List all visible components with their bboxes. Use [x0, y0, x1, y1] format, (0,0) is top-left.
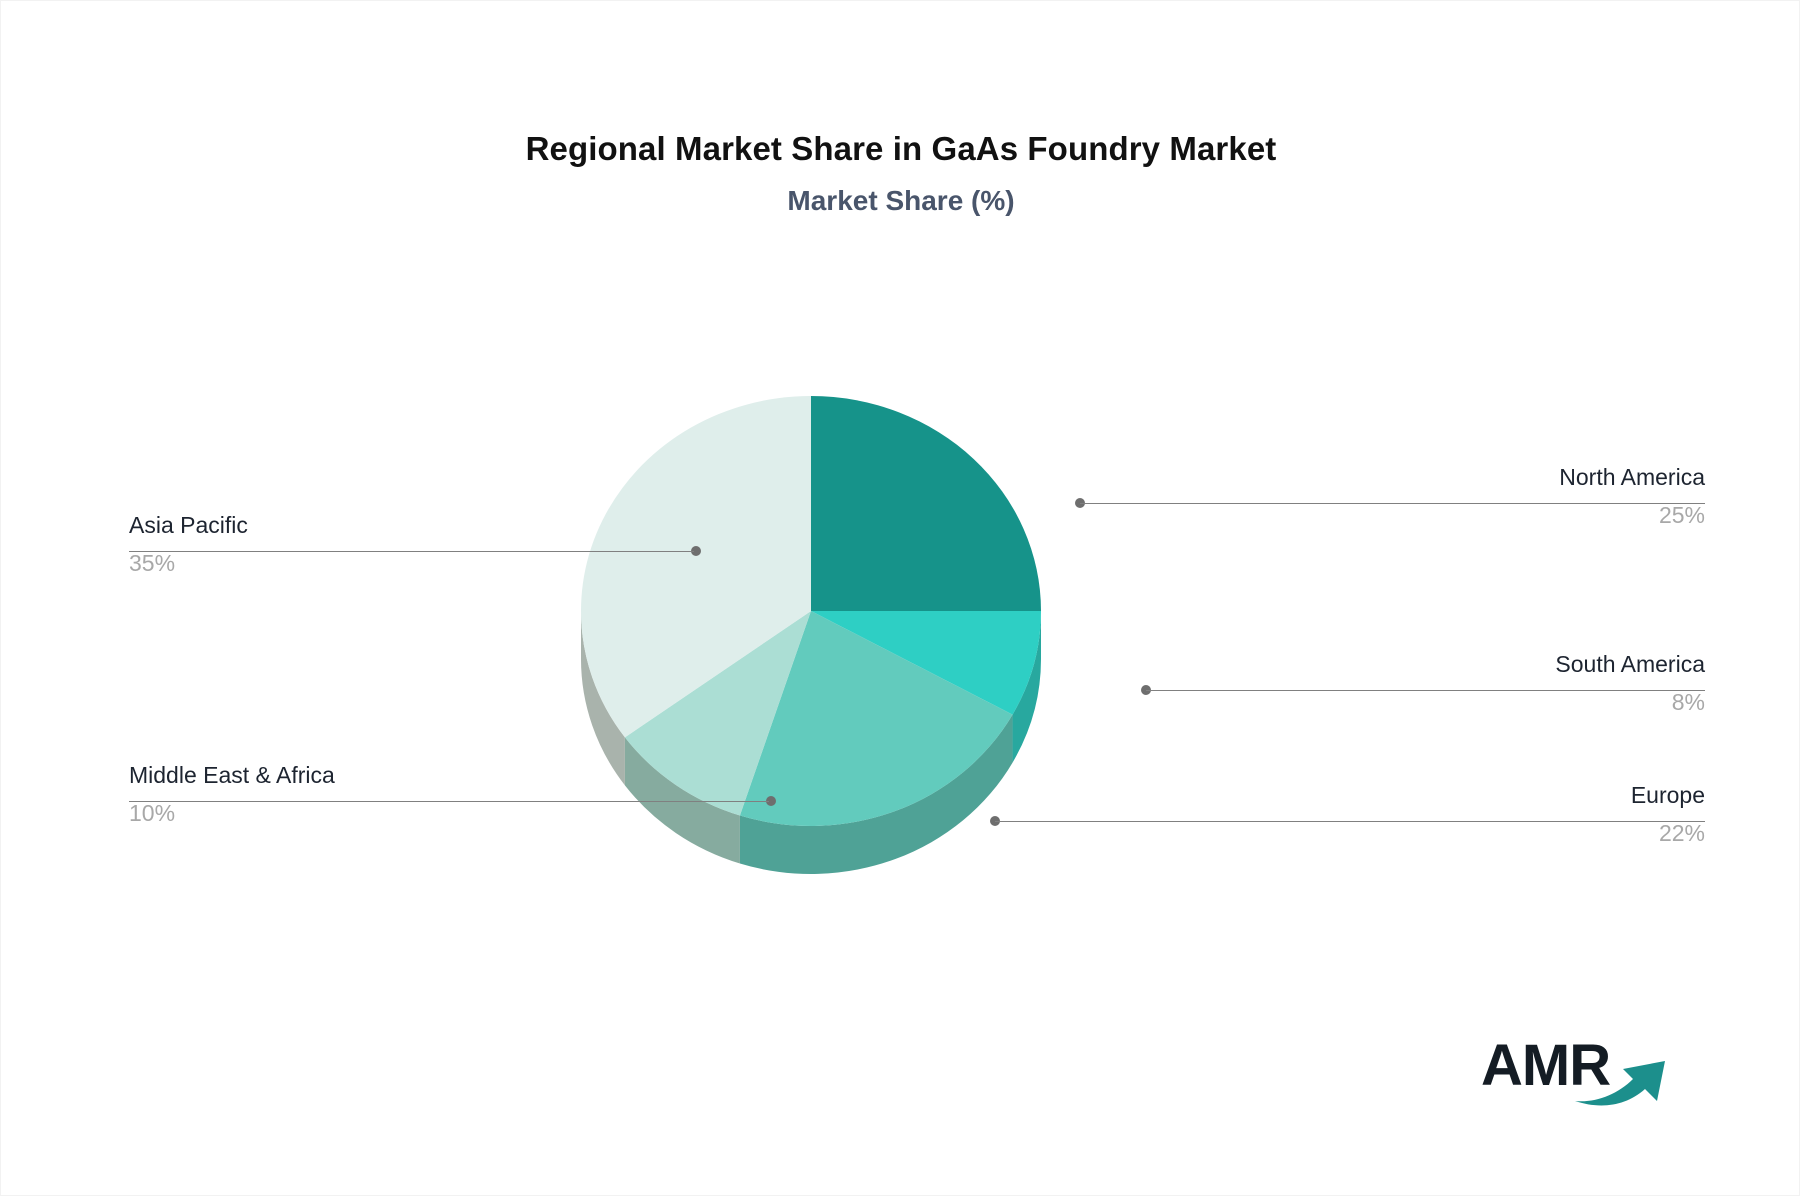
pie-svg	[561, 341, 1261, 961]
pie-chart	[561, 341, 1261, 961]
callout-label-south-america: South America	[1305, 650, 1705, 678]
title-block: Regional Market Share in GaAs Foundry Ma…	[1, 129, 1800, 220]
callout-value-middle-east-africa: 10%	[129, 799, 529, 827]
chart-canvas: Regional Market Share in GaAs Foundry Ma…	[0, 0, 1800, 1196]
callout-value-asia-pacific: 35%	[129, 549, 529, 577]
pie-top-face	[581, 396, 1041, 826]
callout-value-europe: 22%	[1305, 819, 1705, 847]
chart-subtitle: Market Share (%)	[1, 182, 1800, 220]
callout-value-north-america: 25%	[1305, 501, 1705, 529]
callout-north-america: North America 25%	[1305, 463, 1705, 529]
callout-label-middle-east-africa: Middle East & Africa	[129, 761, 529, 789]
page-title: Regional Market Share in GaAs Foundry Ma…	[1, 129, 1800, 169]
callout-asia-pacific: Asia Pacific 35%	[129, 511, 529, 577]
callout-europe: Europe 22%	[1305, 781, 1705, 847]
pie-slice-north-america[interactable]	[811, 396, 1041, 611]
callout-value-south-america: 8%	[1305, 688, 1705, 716]
growth-arrow-icon	[1573, 1039, 1673, 1109]
callout-middle-east-africa: Middle East & Africa 10%	[129, 761, 529, 827]
callout-label-europe: Europe	[1305, 781, 1705, 809]
callout-label-asia-pacific: Asia Pacific	[129, 511, 529, 539]
callout-label-north-america: North America	[1305, 463, 1705, 491]
amr-logo: AMR	[1481, 1031, 1671, 1109]
callout-south-america: South America 8%	[1305, 650, 1705, 716]
